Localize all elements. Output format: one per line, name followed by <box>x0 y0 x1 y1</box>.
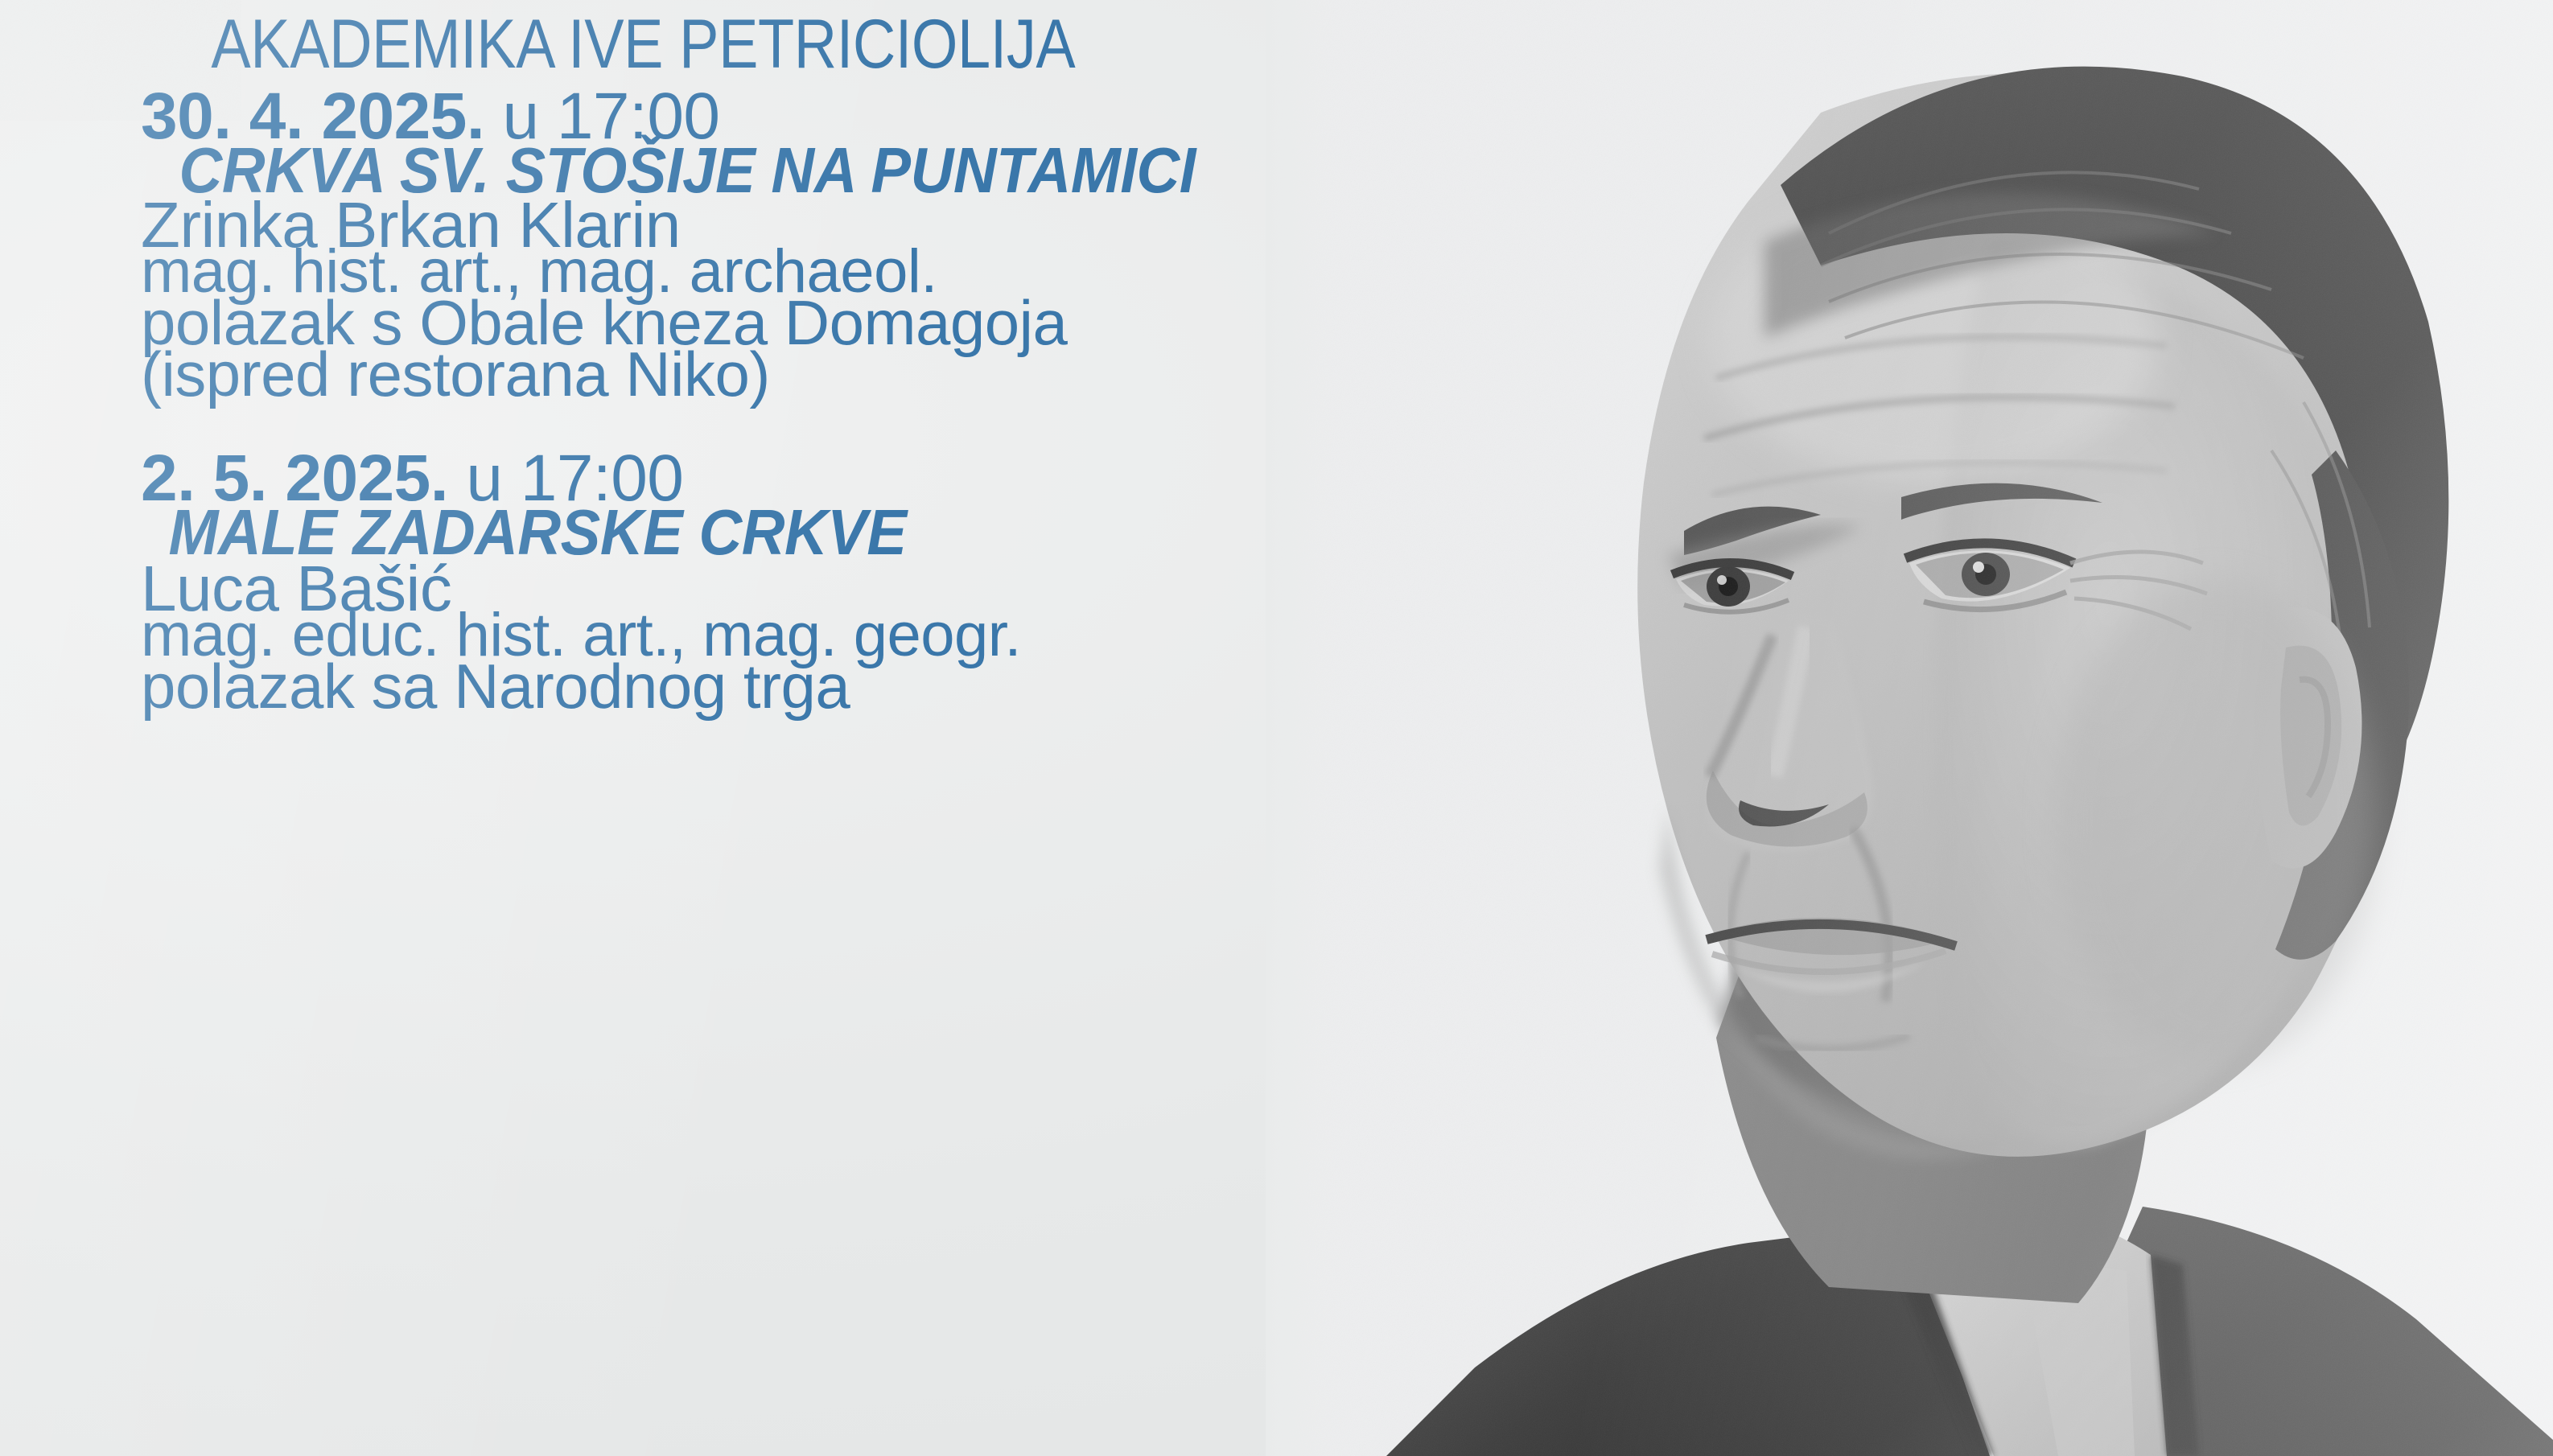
portrait-photo <box>1266 0 2553 1456</box>
page-title: AKADEMIKA IVE PETRICIOLIJA <box>211 10 1075 79</box>
poster-canvas: AKADEMIKA IVE PETRICIOLIJA 30. 4. 2025. … <box>0 0 2553 1456</box>
event-text-column: AKADEMIKA IVE PETRICIOLIJA 30. 4. 2025. … <box>141 0 1283 1456</box>
event-2-departure-line-1: polazak sa Narodnog trga <box>141 655 850 718</box>
event-1-departure-line-2: (ispred restorana Niko) <box>141 343 770 405</box>
